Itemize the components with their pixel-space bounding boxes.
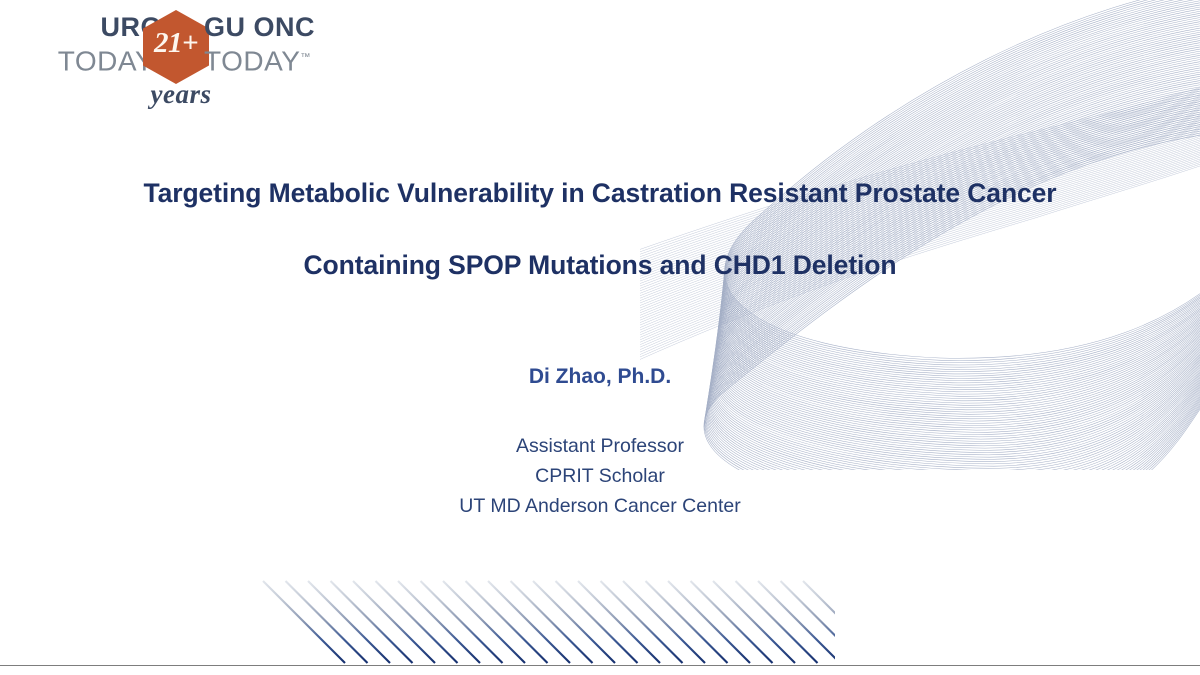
affiliation-line-3: UT MD Anderson Cancer Center [0, 491, 1200, 521]
affiliation-line-2: CPRIT Scholar [0, 461, 1200, 491]
page-title-line-1: Targeting Metabolic Vulnerability in Cas… [0, 177, 1200, 209]
affiliation-line-1: Assistant Professor [0, 431, 1200, 461]
title-slide: URO TODAY® 21+ GU ONC TODAY™ years Targe… [0, 0, 1200, 675]
slide-content: Targeting Metabolic Vulnerability in Cas… [0, 0, 1200, 675]
presenter-name: Di Zhao, Ph.D. [0, 364, 1200, 390]
page-title-line-2: Containing SPOP Mutations and CHD1 Delet… [0, 249, 1200, 281]
